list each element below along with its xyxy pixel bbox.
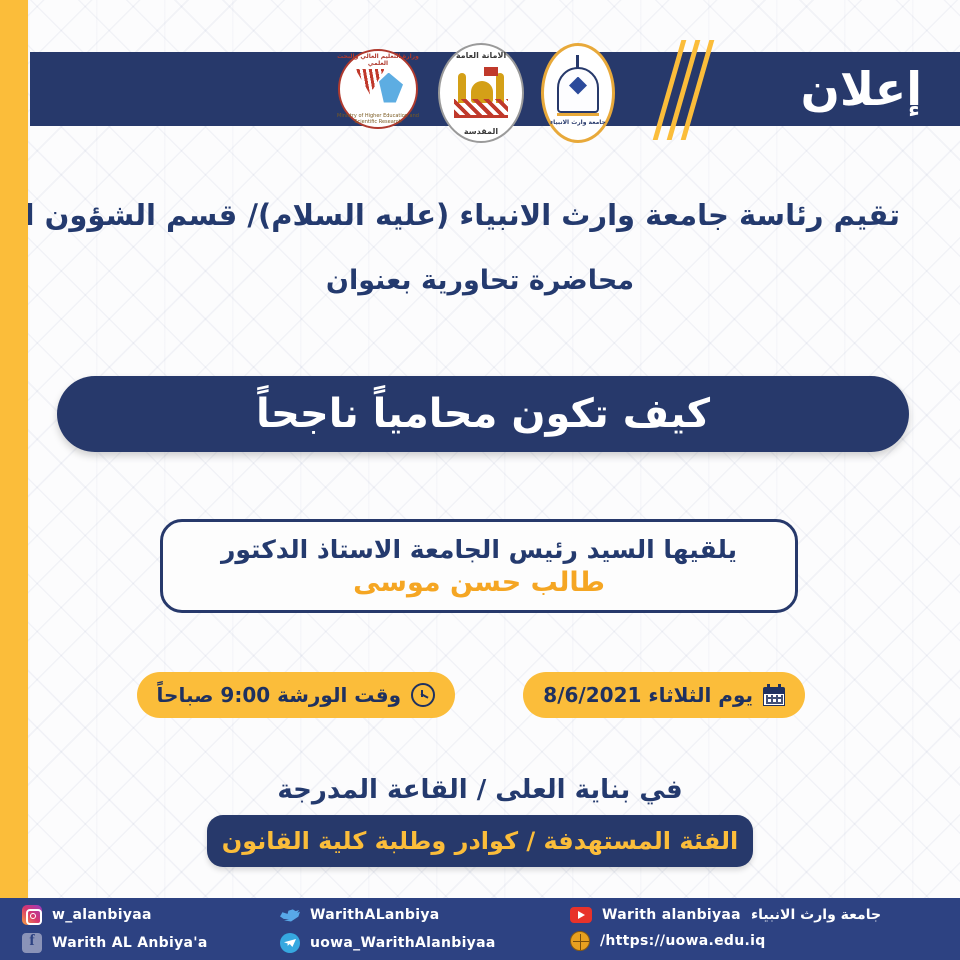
instagram-handle: w_alanbiyaa xyxy=(52,907,152,923)
telegram-icon[interactable] xyxy=(280,933,300,953)
shrine-logo-caption-bottom: المقدسة xyxy=(438,127,524,136)
website-icon[interactable] xyxy=(570,931,590,951)
calendar-icon xyxy=(763,684,785,706)
footer-item-instagram[interactable]: w_alanbiyaa xyxy=(22,905,280,925)
footer-arabic-name: جامعة وارث الانبياء xyxy=(751,907,881,923)
twitter-icon[interactable] xyxy=(280,905,300,925)
youtube-icon[interactable] xyxy=(570,907,592,923)
time-pill: وقت الورشة 9:00 صباحاً xyxy=(137,672,455,718)
university-logo-base xyxy=(557,113,599,116)
university-logo: جامعة وارث الانبياء xyxy=(541,43,615,143)
shrine-logo-calligraphy xyxy=(454,99,508,115)
intro-line-event-type: محاضرة تحاورية بعنوان xyxy=(60,265,900,296)
shrine-logo-bar xyxy=(454,115,508,118)
footer-item-facebook[interactable]: Warith AL Anbiya'a xyxy=(22,933,280,953)
footer-item-youtube[interactable]: Warith alanbiyaa جامعة وارث الانبياء xyxy=(570,907,950,923)
ministry-higher-education-logo: وزارة التعليم العالي والبحث العلمي Minis… xyxy=(335,43,421,143)
telegram-handle: uowa_WarithAlanbiyaa xyxy=(310,935,496,951)
audience-text: الفئة المستهدفة / كوادر وطلبة كلية القان… xyxy=(222,827,739,855)
university-logo-caption: جامعة وارث الانبياء xyxy=(541,119,615,126)
ministry-logo-caption-bottom: Ministry of Higher Education and Scienti… xyxy=(335,113,421,125)
poster-root: إعلان جامعة وارث الانبياء الامانة العامة… xyxy=(0,0,960,960)
youtube-handle: Warith alanbiyaa xyxy=(602,907,741,923)
facebook-icon[interactable] xyxy=(22,933,42,953)
shrine-logo-flag xyxy=(484,67,498,76)
footer-item-website[interactable]: /https://uowa.edu.iq xyxy=(570,931,950,951)
announcement-title: إعلان xyxy=(732,50,922,128)
shrine-logo-caption-top: الامانة العامة xyxy=(438,51,524,60)
footer-column-1: w_alanbiyaa Warith AL Anbiya'a xyxy=(0,898,280,960)
footer-column-2: WarithALanbiya uowa_WarithAlanbiyaa xyxy=(280,898,570,960)
intro-block: تقيم رئاسة جامعة وارث الانبياء (عليه الس… xyxy=(60,196,900,296)
speaker-box: يلقيها السيد رئيس الجامعة الاستاذ الدكتو… xyxy=(160,519,798,613)
holy-shrine-logo: الامانة العامة المقدسة xyxy=(438,43,524,143)
facebook-handle: Warith AL Anbiya'a xyxy=(52,935,208,951)
left-gold-rail xyxy=(0,0,28,928)
footer-item-twitter[interactable]: WarithALanbiya xyxy=(280,905,570,925)
footer-bar: w_alanbiyaa Warith AL Anbiya'a WarithALa… xyxy=(0,898,960,960)
intro-line-organizer: تقيم رئاسة جامعة وارث الانبياء (عليه الس… xyxy=(60,196,900,235)
footer-column-3: Warith alanbiyaa جامعة وارث الانبياء /ht… xyxy=(570,898,950,960)
logo-row: جامعة وارث الانبياء الامانة العامة المقد… xyxy=(335,40,615,145)
lecture-title-banner: كيف تكون محامياً ناجحاً xyxy=(57,376,909,452)
venue-text: في بناية العلى / القاعة المدرجة xyxy=(60,775,900,805)
speaker-name: طالب حسن موسى xyxy=(353,567,605,598)
audience-banner: الفئة المستهدفة / كوادر وطلبة كلية القان… xyxy=(207,815,753,867)
speaker-role: يلقيها السيد رئيس الجامعة الاستاذ الدكتو… xyxy=(221,535,737,564)
lecture-title-text: كيف تكون محامياً ناجحاً xyxy=(256,391,710,437)
ministry-logo-caption-top: وزارة التعليم العالي والبحث العلمي xyxy=(335,53,421,67)
instagram-icon[interactable] xyxy=(22,905,42,925)
footer-item-telegram[interactable]: uowa_WarithAlanbiyaa xyxy=(280,933,570,953)
date-pill: يوم الثلاثاء 8/6/2021 xyxy=(523,672,805,718)
clock-icon xyxy=(411,683,435,707)
website-url: /https://uowa.edu.iq xyxy=(600,933,766,949)
time-label: وقت الورشة 9:00 صباحاً xyxy=(157,683,401,707)
twitter-handle: WarithALanbiya xyxy=(310,907,440,923)
date-label: يوم الثلاثاء 8/6/2021 xyxy=(543,683,753,707)
